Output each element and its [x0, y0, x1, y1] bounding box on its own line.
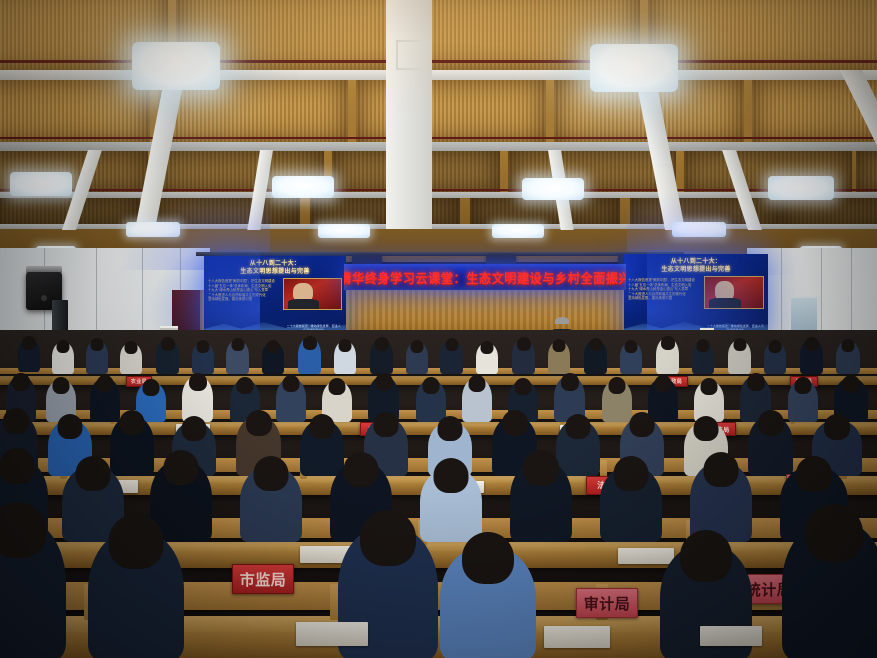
ceiling-panel: [356, 78, 546, 142]
attendee: [298, 338, 321, 374]
notebook: [618, 548, 674, 564]
attendee: [334, 341, 356, 374]
ceiling-beam: [386, 0, 432, 229]
ceiling: [0, 0, 877, 262]
ceiling-medallion: [396, 40, 426, 70]
ceiling-light: [126, 222, 180, 237]
led-screen-left-title: 从十八到二十大：生态文明思想提出与完善: [210, 260, 341, 276]
ceiling-light: [318, 224, 370, 238]
attendee: [262, 342, 284, 374]
led-screen-left-photo: [283, 278, 342, 310]
attendee: [156, 339, 179, 374]
attendee: [276, 378, 306, 422]
attendee: [416, 380, 446, 422]
ceiling-light: [522, 178, 584, 200]
desk-placard: 审计局: [576, 588, 638, 618]
ceiling-panel: [470, 196, 620, 224]
attendee: [420, 468, 482, 542]
attendee: [602, 380, 632, 422]
led-screen-left-bullets: 十八大报告首提"美丽中国"，把生态文明建设 十八届"五位一体"总体布局，生态文明…: [208, 279, 285, 302]
attendee: [300, 420, 344, 476]
attendee: [462, 378, 492, 422]
attendee: [648, 378, 678, 422]
desk-placard: 市监局: [232, 564, 294, 594]
ceiling-light: [672, 222, 726, 237]
attendee: [90, 378, 120, 422]
attendee: [370, 339, 393, 374]
led-banner: 清华终身学习云课堂：生态文明建设与乡村全面振兴: [344, 264, 626, 290]
led-banner-text: 清华终身学习云课堂：生态文明建设与乡村全面振兴: [344, 268, 626, 287]
notebook: [544, 626, 610, 648]
attendee: [18, 338, 40, 372]
attendee: [764, 342, 786, 374]
attendee: [192, 342, 214, 374]
attendee: [548, 341, 570, 374]
speaker-hair: [555, 317, 569, 324]
ceiling-panel: [0, 78, 150, 142]
attendee: [728, 340, 751, 374]
attendee: [110, 416, 154, 476]
ceiling-light: [10, 172, 72, 196]
led-screen-right: 从十八到二十大：生态文明思想提出与完善 十八大报告首提"美丽中国"，把生态文明建…: [624, 254, 768, 336]
ceiling-light: [768, 176, 834, 200]
ceiling-panel: [780, 196, 877, 224]
attendee: [748, 416, 793, 476]
attendee: [692, 341, 714, 374]
attendee: [510, 460, 572, 542]
attendee: [240, 466, 302, 542]
attendee: [440, 340, 463, 374]
attendee: [88, 530, 184, 658]
attendee: [656, 338, 679, 374]
ceiling-panel: [310, 196, 460, 224]
notebook: [700, 626, 762, 646]
ceiling-beam: [0, 142, 877, 151]
ceiling-light: [132, 42, 220, 90]
attendee: [556, 420, 600, 476]
led-screen-left: 从十八到二十大：生态文明思想提出与完善 十八大报告首提"美丽中国"，把生态文明建…: [204, 256, 346, 336]
led-screen-right-photo: [704, 276, 764, 309]
attendee: [600, 466, 662, 542]
ceiling-light: [590, 44, 678, 92]
ceiling-light: [272, 176, 334, 198]
attendee: [226, 340, 249, 374]
led-screen-right-bullets: 十八大报告首提"美丽中国"，把生态文明建设 十八届"五位一体"总体布局，生态文明…: [628, 278, 706, 301]
ceiling-panel: [856, 150, 877, 192]
ceiling-trim: [0, 137, 877, 139]
attendee: [0, 518, 66, 658]
ceiling-panel: [150, 196, 300, 224]
attendee: [476, 343, 498, 374]
led-screen-right-title: 从十八到二十大：生态文明思想提出与完善: [630, 258, 763, 274]
auditorium-photo: 从十八到二十大：生态文明思想提出与完善 十八大报告首提"美丽中国"，把生态文明建…: [0, 0, 877, 658]
attendee: [406, 342, 428, 374]
notebook: [296, 622, 368, 646]
attendee: [52, 342, 74, 374]
attendee: [584, 340, 607, 374]
attendee: [620, 342, 642, 374]
attendee: [86, 340, 108, 374]
audience-area: 财政局 教育局 农业局 人社局 市监局: [0, 330, 877, 658]
ceiling-light: [492, 224, 544, 238]
attendee: [836, 341, 860, 374]
attendee: [782, 520, 877, 658]
attendee: [182, 376, 213, 422]
attendee: [788, 380, 818, 422]
attendee: [512, 339, 535, 374]
attendee: [800, 339, 823, 374]
attendee: [440, 546, 536, 658]
attendee: [120, 343, 142, 374]
